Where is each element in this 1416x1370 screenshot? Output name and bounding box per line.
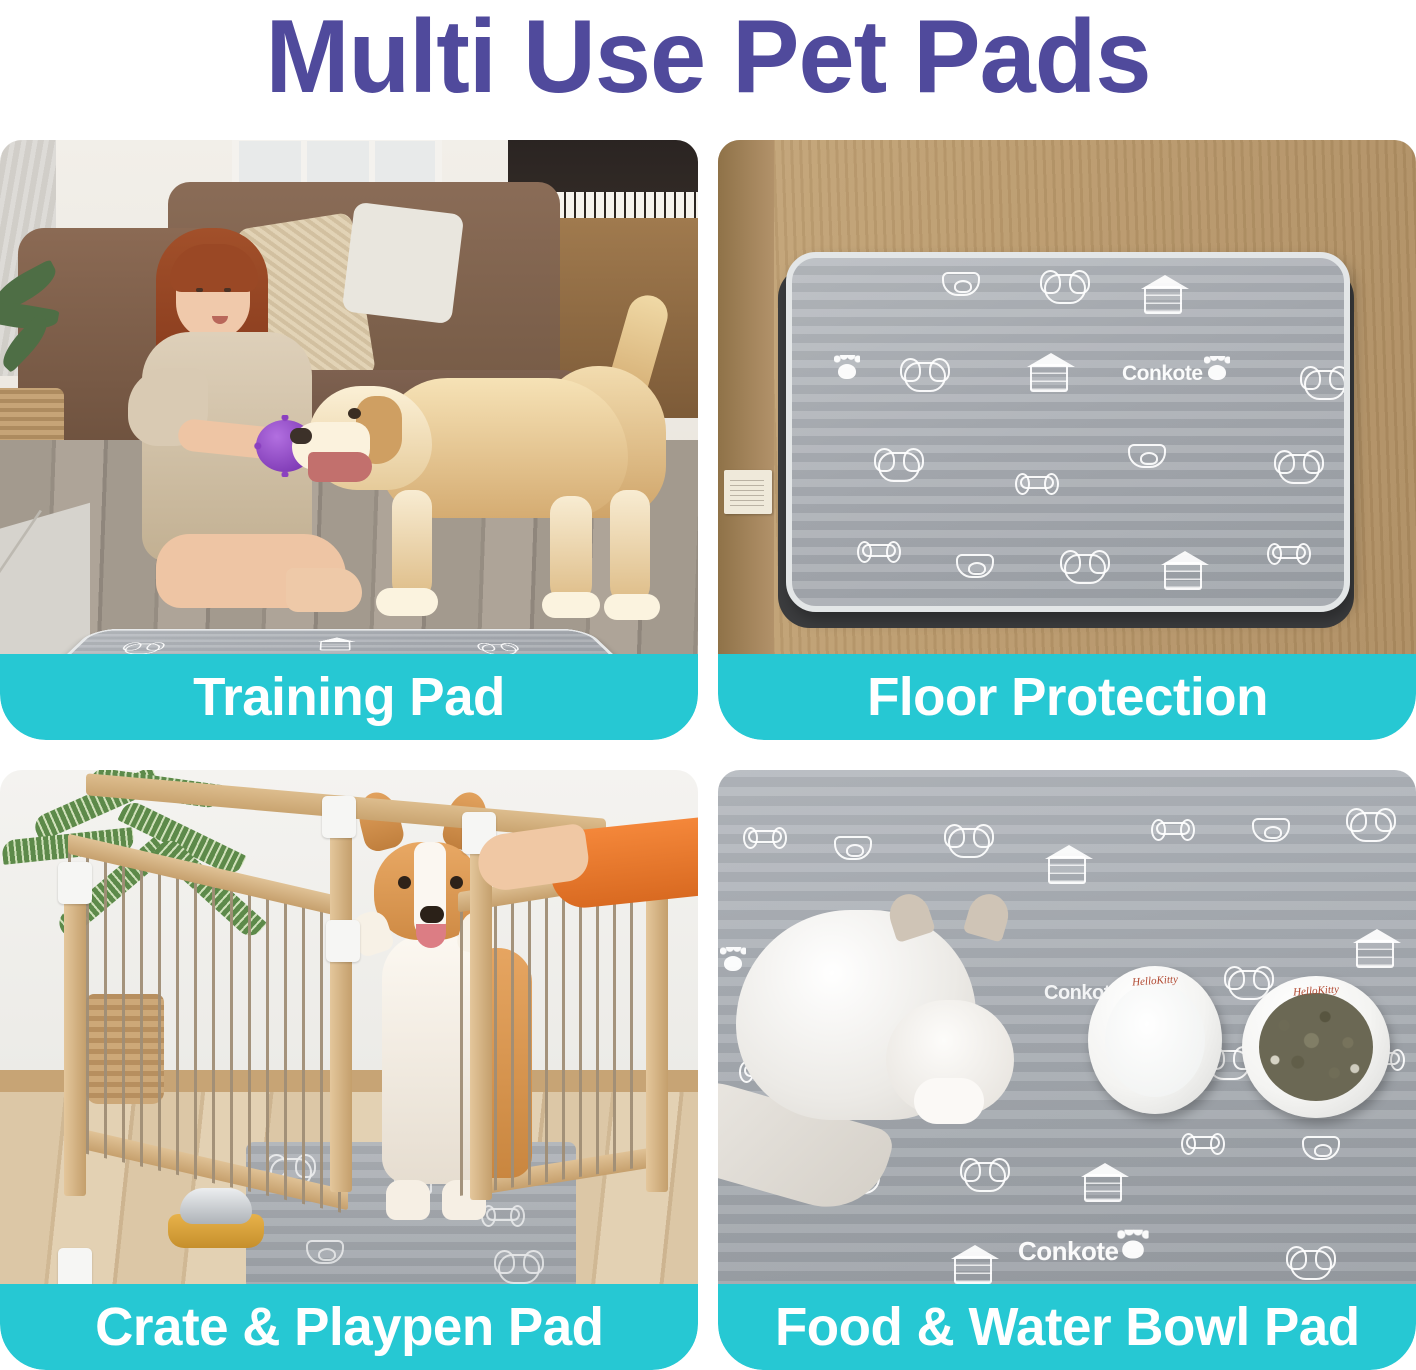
photo-floor-protection: Conkote: [718, 140, 1416, 660]
brand-logo-on-pad: Conkote: [1122, 362, 1226, 386]
playpen-corner-bracket: [58, 862, 92, 904]
caption-label: Crate & Playpen Pad: [95, 1296, 603, 1358]
playpen-corner-bracket: [322, 796, 356, 838]
playpen-post: [64, 866, 86, 1196]
photo-food-water-bowl: Conkote Conkote HelloKitty: [718, 770, 1416, 1290]
pet-pad: Conkote: [786, 252, 1350, 612]
food-bowl: [168, 1188, 264, 1252]
paw-print-icon: [1122, 1241, 1144, 1259]
water-bowl: HelloKitty: [1088, 966, 1222, 1114]
product-infographic: Multi Use Pet Pads: [0, 0, 1416, 1370]
dry-food: [1259, 993, 1373, 1101]
bowl-dish: [180, 1188, 252, 1224]
caption-label: Floor Protection: [867, 666, 1268, 728]
human-arm: [476, 816, 698, 902]
floor-edge-shadow: [718, 140, 774, 660]
open-mouth: [308, 452, 372, 482]
photo-crate-playpen: [0, 770, 698, 1290]
playpen-post: [330, 812, 352, 1192]
playpen-corner-bracket: [326, 920, 360, 962]
area-rug: [0, 503, 90, 660]
milk: [1105, 983, 1205, 1097]
photo-training-pad: [0, 140, 698, 660]
nose: [420, 906, 444, 923]
feature-card-food-water-bowl-pad: Conkote Conkote HelloKitty: [718, 770, 1416, 1370]
hind-foot: [386, 1180, 430, 1220]
care-label-tag: [724, 470, 772, 514]
white-cat: [718, 900, 1058, 1290]
caption-bar-crate-playpen-pad: Crate & Playpen Pad: [0, 1284, 698, 1370]
feature-card-floor-protection: Conkote Floor Protection: [718, 140, 1416, 740]
eye: [348, 408, 361, 419]
playpen-post: [646, 872, 668, 1192]
caption-bar-training-pad: Training Pad: [0, 654, 698, 740]
nose: [290, 428, 312, 444]
brand-name: Conkote: [1122, 362, 1203, 386]
playpen-panel-left: [68, 882, 348, 1182]
paw-print-icon: [1208, 365, 1226, 380]
feature-card-crate-playpen-pad: Crate & Playpen Pad: [0, 770, 698, 1370]
caption-label: Training Pad: [193, 666, 505, 728]
feature-card-training-pad: Training Pad: [0, 140, 698, 740]
food-bowl: HelloKitty: [1242, 976, 1390, 1118]
muzzle: [914, 1078, 984, 1124]
caption-label: Food & Water Bowl Pad: [775, 1296, 1360, 1358]
caption-bar-floor-protection: Floor Protection: [718, 654, 1416, 740]
page-title: Multi Use Pet Pads: [21, 0, 1395, 116]
caption-bar-food-water-bowl-pad: Food & Water Bowl Pad: [718, 1284, 1416, 1370]
golden-retriever: [292, 340, 692, 660]
